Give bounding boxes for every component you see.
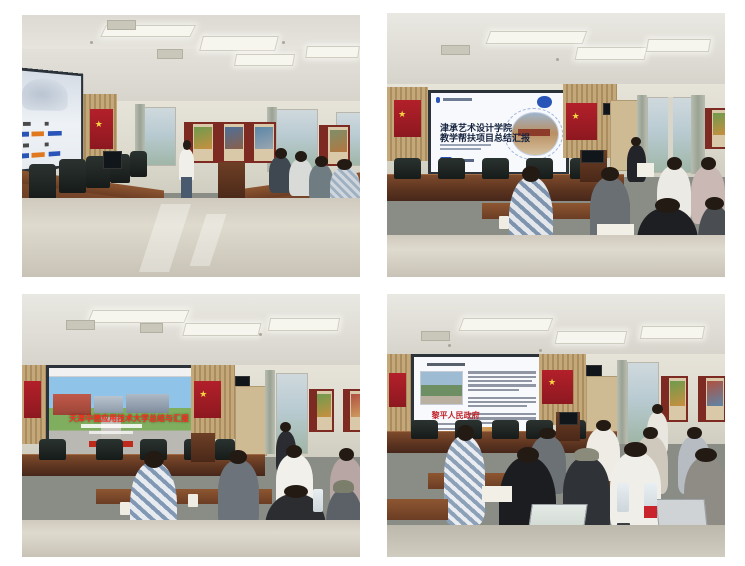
wall-poster xyxy=(661,376,689,422)
slide-decor-circle xyxy=(537,96,552,109)
slide-text xyxy=(22,153,29,159)
wall-poster xyxy=(245,122,276,163)
slide-text xyxy=(22,132,29,137)
ceiling-vent xyxy=(157,49,183,59)
hammer-sickle-icon: ★ xyxy=(199,390,207,399)
podium xyxy=(218,162,245,201)
attendee-head xyxy=(144,451,164,468)
floor xyxy=(387,235,725,277)
attendee-head xyxy=(339,448,354,461)
monitor xyxy=(581,150,603,163)
podium xyxy=(191,433,215,462)
smoke-detector xyxy=(90,41,93,44)
slide-heading xyxy=(427,363,466,366)
attendee-cap xyxy=(574,448,599,461)
party-flag: ★ xyxy=(566,103,596,140)
slide-subtitle xyxy=(440,148,481,150)
slide-title: 天津中德应用技术大学总结与汇报 xyxy=(69,413,189,424)
slide-photo xyxy=(420,371,463,404)
party-flag xyxy=(389,373,406,407)
photo-top-right[interactable]: ★ 津承艺术设计学院 教学帮扶项目总结汇报 xyxy=(387,13,725,277)
poster-image xyxy=(670,381,686,406)
window xyxy=(144,107,176,167)
ceiling-vent xyxy=(441,45,470,55)
slide-org-name xyxy=(443,98,473,101)
slide-paragraph-line xyxy=(468,371,536,373)
slide-surface xyxy=(22,71,81,170)
party-flag: ★ xyxy=(542,370,572,404)
poster-image xyxy=(255,127,273,149)
poster-image xyxy=(707,381,723,406)
attendee-head xyxy=(284,485,308,498)
water-bottle xyxy=(617,483,629,512)
slide-text-highlight xyxy=(32,152,45,158)
floor xyxy=(22,520,360,557)
monitor xyxy=(103,151,122,169)
party-flag: ★ xyxy=(90,109,114,148)
poster-strip xyxy=(345,391,350,430)
attendee-head xyxy=(624,442,646,456)
meeting-room-scene-tr: ★ 津承艺术设计学院 教学帮扶项目总结汇报 xyxy=(387,13,725,277)
water-bottle xyxy=(644,483,658,517)
attendee-head xyxy=(596,420,611,432)
chair xyxy=(438,158,465,179)
presenter-head xyxy=(183,140,192,150)
slide-app-toolbar xyxy=(49,368,194,377)
party-flag xyxy=(24,381,41,418)
bottle-label xyxy=(644,506,658,518)
laptop xyxy=(656,499,708,527)
ceiling-light xyxy=(639,326,704,339)
slide-subtitle xyxy=(89,431,133,434)
ceiling-light xyxy=(646,39,711,52)
curtain xyxy=(617,360,627,444)
poster-image xyxy=(194,127,212,149)
attendee-head xyxy=(286,445,302,458)
hammer-sickle-icon: ★ xyxy=(572,112,580,121)
projection-screen xyxy=(22,67,84,173)
wall-poster xyxy=(309,389,333,432)
ceiling-vent xyxy=(107,20,136,30)
poster-strip xyxy=(700,378,706,420)
poster-strip xyxy=(311,391,316,430)
water-bottle xyxy=(313,489,323,513)
ceiling-light xyxy=(87,310,189,323)
slide-logo-icon xyxy=(436,97,440,103)
attendee-head xyxy=(643,427,658,440)
slide-text xyxy=(45,143,49,147)
poster-strip xyxy=(217,124,224,161)
slide-paragraph-line xyxy=(468,384,536,386)
attendee-head xyxy=(315,156,327,167)
smoke-detector xyxy=(556,58,559,61)
slide-text xyxy=(48,131,62,136)
ceiling-light xyxy=(555,331,627,344)
attendee-head xyxy=(517,447,539,463)
floor xyxy=(387,525,725,557)
slide-text-highlight xyxy=(32,131,44,136)
wall-poster xyxy=(215,122,246,163)
slide-text xyxy=(49,151,60,156)
ceiling-light xyxy=(575,47,647,60)
attendee-head xyxy=(295,151,307,162)
attendee xyxy=(444,436,485,525)
attendee-head xyxy=(275,148,287,159)
slide-title-line2: 教学帮扶项目总结汇报 xyxy=(440,131,530,144)
attendee-head xyxy=(695,448,717,462)
ceiling-light xyxy=(486,31,587,44)
chair xyxy=(482,158,509,179)
party-flag: ★ xyxy=(194,381,221,418)
meeting-room-scene-bl: 天津中德应用技术大学总结与汇报 ★ xyxy=(22,294,360,557)
handout-paper xyxy=(637,163,654,176)
ceiling-vent xyxy=(66,320,95,330)
hammer-sickle-icon: ★ xyxy=(95,120,103,129)
slide-campus-building xyxy=(126,394,170,413)
chair xyxy=(411,420,438,438)
slide-subtitle xyxy=(81,424,142,427)
slide-paragraph-line xyxy=(468,397,536,399)
poster-strip xyxy=(663,378,669,420)
poster-image xyxy=(225,127,243,149)
cup xyxy=(499,216,509,229)
presenter xyxy=(179,149,194,180)
attendee-head xyxy=(655,198,679,213)
chair xyxy=(130,151,147,177)
poster-image xyxy=(317,394,330,418)
photo-collage: ★ xyxy=(0,0,745,566)
attendee-head xyxy=(522,166,540,182)
presenter-head xyxy=(652,404,663,414)
attendee-head xyxy=(667,157,682,170)
slide-paragraph-line xyxy=(468,376,536,378)
wall-poster xyxy=(705,108,725,149)
ceiling-light xyxy=(305,46,359,58)
photo-bottom-left[interactable]: 天津中德应用技术大学总结与汇报 ★ xyxy=(22,294,360,557)
attendee-head xyxy=(601,167,619,181)
slide-paragraph-line xyxy=(468,405,527,407)
ceiling-vent xyxy=(421,331,450,341)
poster-image xyxy=(713,113,725,135)
ceiling-light xyxy=(199,36,279,51)
hammer-sickle-icon: ★ xyxy=(398,110,406,119)
slide-paragraph-line xyxy=(468,380,532,382)
slide-paragraph-line xyxy=(468,401,536,403)
attendee-head xyxy=(457,425,474,441)
attendee xyxy=(218,460,259,528)
smoke-detector xyxy=(448,344,451,347)
cup xyxy=(188,494,198,507)
attendee-cap xyxy=(333,480,355,493)
wall-poster xyxy=(343,389,360,432)
poster-strip xyxy=(247,124,254,161)
chair xyxy=(59,159,86,193)
attendee-head xyxy=(705,197,724,210)
hammer-sickle-icon: ★ xyxy=(548,378,556,387)
ceiling-vent xyxy=(140,323,162,333)
attendee-head xyxy=(701,157,716,170)
slide-text xyxy=(24,143,30,147)
slide-text xyxy=(24,122,31,126)
wall-poster xyxy=(698,376,725,422)
monitor xyxy=(559,412,578,425)
chair xyxy=(394,158,421,179)
slide-subtitle xyxy=(440,144,491,146)
cup xyxy=(120,502,130,515)
party-flag: ★ xyxy=(394,100,421,137)
poster-strip xyxy=(707,110,712,147)
presenter-head xyxy=(280,422,291,432)
desk-row xyxy=(387,499,448,520)
ceiling-light xyxy=(234,54,296,66)
ceiling-light xyxy=(183,323,262,336)
attendee-head xyxy=(337,159,352,171)
photo-bottom-right[interactable]: 黎平人民政府 ★ xyxy=(387,294,725,557)
slide-red-heading: 黎平人民政府 xyxy=(432,410,480,421)
slide-campus-building xyxy=(94,396,123,413)
door xyxy=(235,386,267,456)
slide-paragraph-line xyxy=(468,389,519,391)
meeting-room-scene-tl: ★ xyxy=(22,15,360,277)
photo-top-left[interactable]: ★ xyxy=(22,15,360,277)
ceiling xyxy=(387,13,725,92)
chair xyxy=(39,439,66,460)
attendee-head xyxy=(687,427,702,440)
ceiling-light xyxy=(459,318,553,331)
slide-campus-building xyxy=(53,394,91,415)
poster-image xyxy=(351,394,360,418)
slide-text xyxy=(45,122,49,126)
attendee-head xyxy=(539,428,555,440)
chair xyxy=(29,164,56,201)
chair xyxy=(492,420,519,438)
attendee-head xyxy=(229,450,247,464)
curtain xyxy=(265,370,275,454)
notebook xyxy=(482,486,512,502)
slide-diagram xyxy=(22,77,67,111)
presenter-head xyxy=(631,137,641,147)
poster-image xyxy=(330,130,348,152)
ceiling-light xyxy=(268,318,340,331)
meeting-room-scene-br: 黎平人民政府 ★ xyxy=(387,294,725,557)
chair xyxy=(96,439,123,460)
